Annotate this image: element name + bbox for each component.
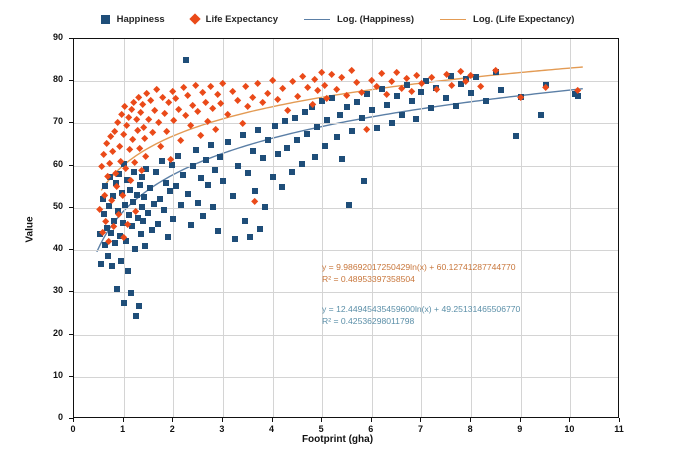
data-point-happiness <box>354 99 360 105</box>
data-point-happiness <box>247 234 253 240</box>
data-point-happiness <box>265 137 271 143</box>
legend-label-life-expectancy: Life Expectancy <box>206 14 278 25</box>
data-point-happiness <box>235 163 241 169</box>
gridline-vertical <box>124 39 125 417</box>
data-point-happiness <box>344 104 350 110</box>
data-point-happiness <box>139 174 145 180</box>
data-point-happiness <box>339 156 345 162</box>
x-axis-tick-label: 3 <box>210 424 234 434</box>
square-marker-icon <box>101 15 110 24</box>
trendline-marker-icon <box>304 19 330 20</box>
x-axis-tick-label: 8 <box>458 424 482 434</box>
data-point-happiness <box>212 167 218 173</box>
data-point-happiness <box>137 182 143 188</box>
plot-area <box>73 38 619 418</box>
data-point-happiness <box>131 169 137 175</box>
data-point-happiness <box>128 290 134 296</box>
equation-life-expectancy-line1: y = 9.98692017250429ln(x) + 60.127412877… <box>322 262 516 272</box>
gridline-horizontal <box>74 292 618 293</box>
y-axis-tick-label: 70 <box>33 116 63 126</box>
data-point-happiness <box>163 180 169 186</box>
data-point-happiness <box>399 112 405 118</box>
x-axis-tick-label: 2 <box>160 424 184 434</box>
data-point-happiness <box>304 131 310 137</box>
data-point-happiness <box>289 169 295 175</box>
data-point-happiness <box>208 142 214 148</box>
data-point-happiness <box>220 178 226 184</box>
data-point-happiness <box>314 124 320 130</box>
data-point-happiness <box>257 226 263 232</box>
gridline-vertical <box>372 39 373 417</box>
data-point-happiness <box>260 155 266 161</box>
data-point-happiness <box>337 112 343 118</box>
data-point-happiness <box>255 127 261 133</box>
data-point-happiness <box>114 286 120 292</box>
data-point-happiness <box>359 115 365 121</box>
y-axis-tick-label: 20 <box>33 328 63 338</box>
data-point-happiness <box>389 120 395 126</box>
gridline-horizontal <box>74 335 618 336</box>
legend-item-happiness[interactable]: Happiness <box>101 14 165 25</box>
data-point-happiness <box>101 211 107 217</box>
legend-item-life-expectancy[interactable]: Life Expectancy <box>191 14 278 25</box>
data-point-happiness <box>361 178 367 184</box>
data-point-happiness <box>121 300 127 306</box>
scatter-chart: Happiness Life Expectancy Log. (Happines… <box>0 0 675 459</box>
data-point-happiness <box>200 213 206 219</box>
equation-life-expectancy-r2: R² = 0.48953397358504 <box>322 274 415 284</box>
y-axis-tick-label: 0 <box>33 412 63 422</box>
data-point-happiness <box>242 218 248 224</box>
data-point-happiness <box>203 157 209 163</box>
data-point-happiness <box>105 253 111 259</box>
legend-label-log-life-expectancy: Log. (Life Expectancy) <box>473 14 574 25</box>
data-point-happiness <box>312 154 318 160</box>
data-point-happiness <box>284 145 290 151</box>
x-axis-tick-label: 9 <box>508 424 532 434</box>
data-point-happiness <box>130 199 136 205</box>
gridline-vertical <box>421 39 422 417</box>
data-point-happiness <box>173 183 179 189</box>
equation-happiness: y = 12.44945435459600ln(x) + 49.25131465… <box>322 304 520 327</box>
data-point-happiness <box>138 231 144 237</box>
gridline-horizontal <box>74 377 618 378</box>
data-point-happiness <box>334 134 340 140</box>
data-point-happiness <box>302 109 308 115</box>
data-point-happiness <box>394 93 400 99</box>
data-point-happiness <box>294 137 300 143</box>
data-point-happiness <box>384 102 390 108</box>
diamond-marker-icon <box>189 13 200 24</box>
data-point-happiness <box>369 107 375 113</box>
data-point-happiness <box>272 123 278 129</box>
data-point-happiness <box>188 222 194 228</box>
data-point-happiness <box>122 202 128 208</box>
data-point-happiness <box>112 240 118 246</box>
x-axis-tick-label: 10 <box>557 424 581 434</box>
data-point-happiness <box>170 216 176 222</box>
data-point-happiness <box>374 125 380 131</box>
data-point-happiness <box>513 133 519 139</box>
data-point-happiness <box>132 246 138 252</box>
y-axis-tick-label: 50 <box>33 201 63 211</box>
legend-label-log-happiness: Log. (Happiness) <box>337 14 414 25</box>
data-point-happiness <box>136 303 142 309</box>
y-axis-tick-label: 10 <box>33 370 63 380</box>
data-point-happiness <box>157 196 163 202</box>
gridline-horizontal <box>74 166 618 167</box>
data-point-happiness <box>418 89 424 95</box>
legend-item-log-life-expectancy[interactable]: Log. (Life Expectancy) <box>440 14 574 25</box>
chart-legend: Happiness Life Expectancy Log. (Happines… <box>0 8 675 30</box>
y-axis-title: Value <box>22 0 38 459</box>
data-point-happiness <box>468 90 474 96</box>
data-point-happiness <box>185 191 191 197</box>
data-point-happiness <box>279 184 285 190</box>
data-point-happiness <box>225 139 231 145</box>
equation-happiness-r2: R² = 0.42536298011798 <box>322 316 414 326</box>
data-point-happiness <box>193 147 199 153</box>
data-point-happiness <box>215 228 221 234</box>
x-axis-tick-label: 6 <box>359 424 383 434</box>
y-axis-title-text: Value <box>25 216 36 242</box>
data-point-happiness <box>443 95 449 101</box>
gridline-vertical <box>273 39 274 417</box>
data-point-happiness <box>165 234 171 240</box>
data-point-happiness <box>453 103 459 109</box>
data-point-happiness <box>161 207 167 213</box>
data-point-happiness <box>98 261 104 267</box>
y-axis-tick-label: 80 <box>33 74 63 84</box>
x-axis-tick-label: 4 <box>260 424 284 434</box>
data-point-happiness <box>109 263 115 269</box>
data-point-happiness <box>349 128 355 134</box>
legend-label-happiness: Happiness <box>117 14 165 25</box>
data-point-happiness <box>324 117 330 123</box>
data-point-happiness <box>180 172 186 178</box>
y-axis-tick-label: 30 <box>33 285 63 295</box>
data-point-happiness <box>190 163 196 169</box>
data-point-happiness <box>183 57 189 63</box>
data-point-happiness <box>142 243 148 249</box>
x-axis-tick-label: 11 <box>607 424 631 434</box>
data-point-happiness <box>538 112 544 118</box>
x-axis-tick-label: 1 <box>111 424 135 434</box>
x-axis-tick-label: 7 <box>408 424 432 434</box>
data-point-happiness <box>139 204 145 210</box>
data-point-happiness <box>205 182 211 188</box>
data-point-happiness <box>127 187 133 193</box>
data-point-happiness <box>252 188 258 194</box>
y-axis-tick-label: 40 <box>33 243 63 253</box>
equation-life-expectancy: y = 9.98692017250429ln(x) + 60.127412877… <box>322 262 516 285</box>
data-point-happiness <box>240 132 246 138</box>
data-point-happiness <box>250 148 256 154</box>
data-point-happiness <box>210 204 216 210</box>
x-axis-tick-label: 5 <box>309 424 333 434</box>
data-point-happiness <box>108 230 114 236</box>
data-point-happiness <box>159 158 165 164</box>
data-point-happiness <box>292 115 298 121</box>
data-point-happiness <box>413 116 419 122</box>
data-point-happiness <box>175 153 181 159</box>
data-point-happiness <box>178 202 184 208</box>
data-point-happiness <box>151 201 157 207</box>
gridline-vertical <box>223 39 224 417</box>
data-point-happiness <box>141 194 147 200</box>
trendline-marker-orange-icon <box>440 19 466 20</box>
data-point-happiness <box>125 268 131 274</box>
data-point-happiness <box>299 161 305 167</box>
data-point-happiness <box>245 170 251 176</box>
data-point-happiness <box>483 98 489 104</box>
gridline-vertical <box>570 39 571 417</box>
gridline-horizontal <box>74 250 618 251</box>
data-point-happiness <box>282 118 288 124</box>
data-point-happiness <box>153 169 159 175</box>
data-point-happiness <box>346 202 352 208</box>
data-point-happiness <box>195 200 201 206</box>
legend-item-log-happiness[interactable]: Log. (Happiness) <box>304 14 414 25</box>
data-point-happiness <box>134 192 140 198</box>
y-axis-tick-label: 60 <box>33 159 63 169</box>
data-point-happiness <box>217 154 223 160</box>
data-point-happiness <box>133 313 139 319</box>
data-point-happiness <box>275 151 281 157</box>
data-point-happiness <box>118 258 124 264</box>
data-point-happiness <box>149 227 155 233</box>
gridline-horizontal <box>74 81 618 82</box>
data-point-happiness <box>232 236 238 242</box>
equation-happiness-line1: y = 12.44945435459600ln(x) + 49.25131465… <box>322 304 520 314</box>
data-point-happiness <box>140 218 146 224</box>
data-point-happiness <box>428 105 434 111</box>
data-point-happiness <box>102 183 108 189</box>
y-axis-tick-label: 90 <box>33 32 63 42</box>
data-point-happiness <box>198 175 204 181</box>
data-point-happiness <box>155 221 161 227</box>
data-point-happiness <box>270 174 276 180</box>
data-point-happiness <box>147 185 153 191</box>
x-axis-title: Footprint (gha) <box>0 434 675 445</box>
data-point-happiness <box>322 143 328 149</box>
data-point-happiness <box>145 210 151 216</box>
x-axis-tick-label: 0 <box>61 424 85 434</box>
data-point-happiness <box>498 87 504 93</box>
data-point-happiness <box>409 98 415 104</box>
data-point-happiness <box>262 204 268 210</box>
data-point-happiness <box>230 193 236 199</box>
data-point-happiness <box>126 212 132 218</box>
gridline-vertical <box>322 39 323 417</box>
data-point-happiness <box>167 188 173 194</box>
